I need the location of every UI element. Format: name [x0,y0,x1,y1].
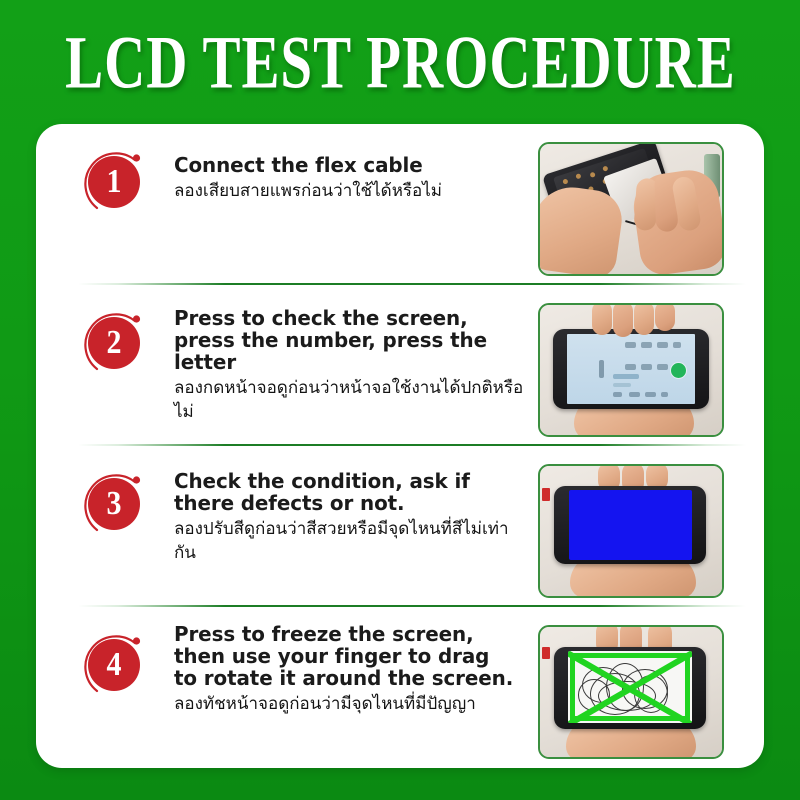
step-title-en: Press to freeze the screen, then use you… [174,623,515,689]
step-photo [538,303,724,437]
step-photo [538,142,724,276]
badge-circle: 4 [88,639,140,691]
step-row: 1 Connect the flex cable ลองเสียบสายแพรก… [36,124,764,285]
step-text-block: Check the condition, ask if there defect… [170,446,538,565]
step-photo [538,625,724,759]
step-title-th: ลองกดหน้าจอดูก่อนว่าหน้าจอใช้งานได้ปกติห… [174,376,526,424]
step-row: 3 Check the condition, ask if there defe… [36,446,764,607]
badge-number: 4 [107,648,122,682]
step-title-th: ลองเสียบสายแพรก่อนว่าใช้ได้หรือไม่ [174,179,526,203]
badge-circle: 2 [88,317,140,369]
badge-number: 3 [107,487,122,521]
step-row: 2 Press to check the screen, press the n… [36,285,764,446]
step-title-en: Press to check the screen, press the num… [174,307,515,373]
step-title-en: Check the condition, ask if there defect… [174,470,515,514]
step-number-badge: 4 [78,629,170,721]
step-number-badge: 1 [78,146,170,238]
step-text-block: Connect the flex cable ลองเสียบสายแพรก่อ… [170,124,538,203]
photo-content-blue-screen [540,466,722,596]
step-number-badge: 3 [78,468,170,560]
step-row: 4 Press to freeze the screen, then use y… [36,607,764,768]
step-text-block: Press to check the screen, press the num… [170,285,538,424]
step-number-badge: 2 [78,307,170,399]
step-photo [538,464,724,598]
page-background: LCD TEST PROCEDURE 1 Connect the flex ca… [0,0,800,800]
photo-content-flex-cable [540,144,722,274]
step-text-block: Press to freeze the screen, then use you… [170,607,538,716]
badge-circle: 3 [88,478,140,530]
badge-circle: 1 [88,156,140,208]
step-title-th: ลองปรับสีดูก่อนว่าสีสวยหรือมีจุดไหนที่สี… [174,517,526,565]
photo-content-dialer [540,305,722,435]
step-title-en: Connect the flex cable [174,154,515,176]
badge-number: 1 [107,165,122,199]
badge-number: 2 [107,326,122,360]
photo-content-touch-test [540,627,722,757]
page-title: LCD TEST PROCEDURE [65,25,736,101]
steps-card: 1 Connect the flex cable ลองเสียบสายแพรก… [36,124,764,768]
step-title-th: ลองทัชหน้าจอดูก่อนว่ามีจุดไหนที่มีปัญญา [174,692,526,716]
title-bar: LCD TEST PROCEDURE [0,0,800,124]
